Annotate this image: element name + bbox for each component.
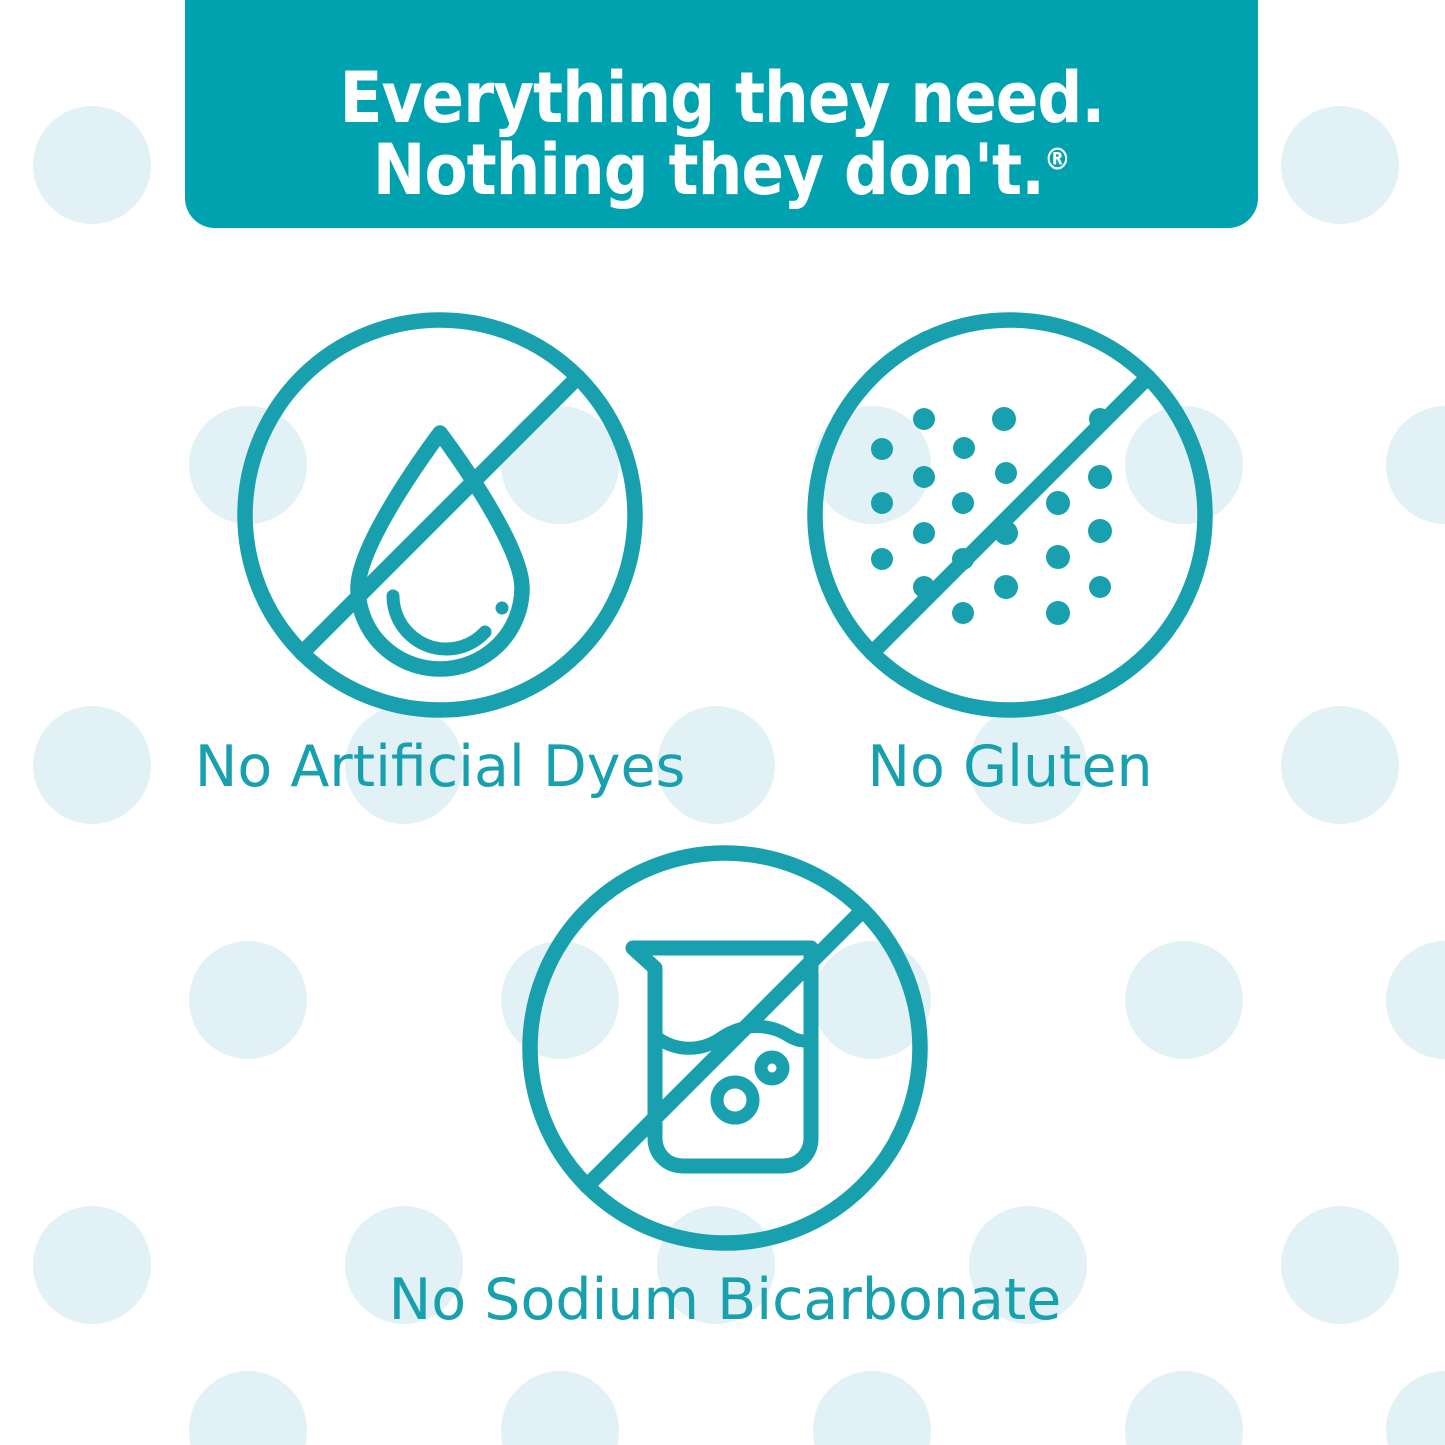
no-gluten-grains-icon: [800, 305, 1220, 725]
feature-label-no-artificial-dyes: No Artificial Dyes: [195, 739, 686, 796]
feature-tile-no-gluten: No Gluten: [705, 305, 1315, 796]
feature-label-no-sodium-bicarbonate: No Sodium Bicarbonate: [389, 1272, 1062, 1329]
no-water-drop-icon: [230, 305, 650, 725]
infographic-canvas: Everything they need. Nothing they don't…: [0, 0, 1445, 1445]
no-beaker-icon: [515, 838, 935, 1258]
feature-tile-no-sodium-bicarbonate: No Sodium Bicarbonate: [420, 838, 1030, 1329]
feature-label-no-gluten: No Gluten: [867, 739, 1152, 796]
headline-line-2: Nothing they don't.®: [373, 134, 1070, 206]
headline-line-2-text: Nothing they don't.: [373, 129, 1044, 211]
feature-tile-no-artificial-dyes: No Artificial Dyes: [135, 305, 745, 796]
registered-trademark-symbol: ®: [1044, 143, 1070, 178]
headline-line-1: Everything they need.: [339, 62, 1104, 134]
header-banner: Everything they need. Nothing they don't…: [185, 0, 1258, 228]
